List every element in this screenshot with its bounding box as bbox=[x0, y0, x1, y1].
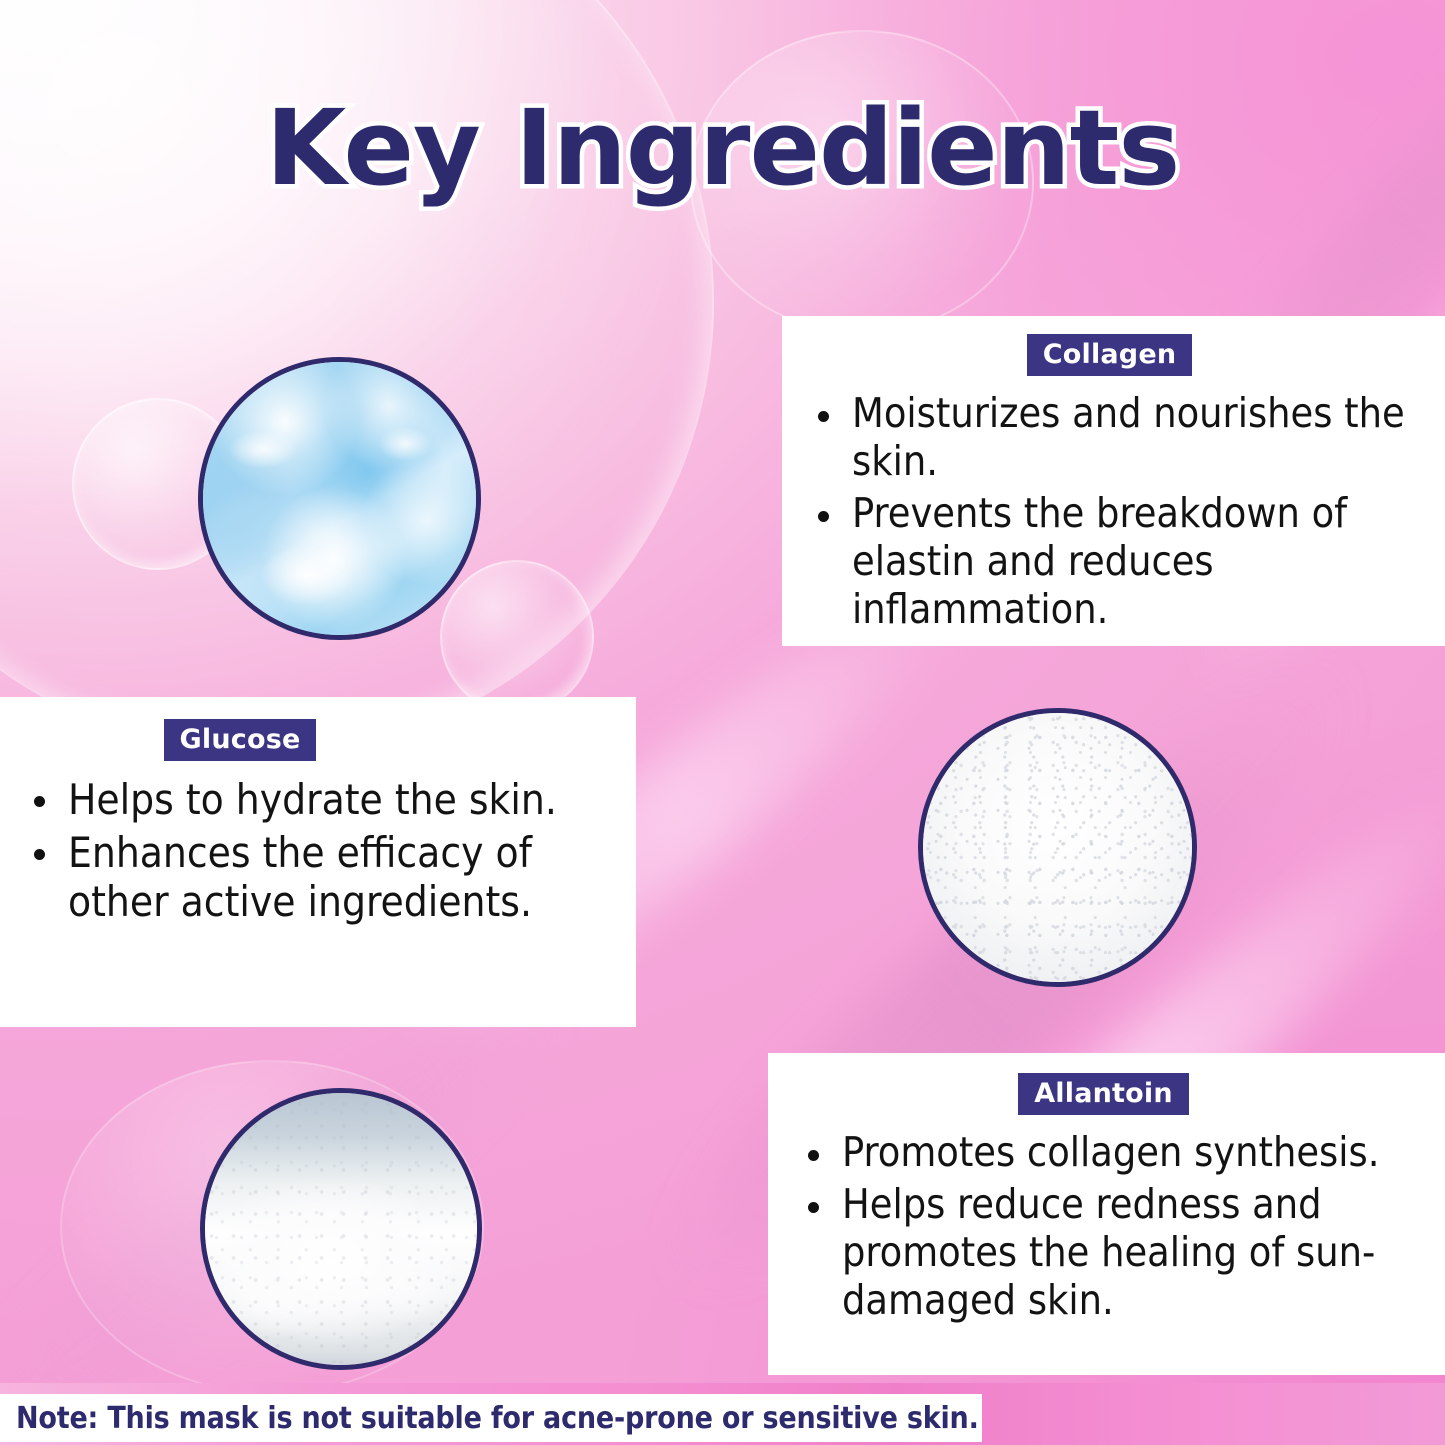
ingredient-card-collagen: Collagen Moisturizes and nourishes the s… bbox=[782, 316, 1445, 646]
blue-gel-crystals-photo bbox=[198, 357, 481, 640]
ingredient-tag-collagen: Collagen bbox=[1027, 334, 1193, 376]
benefit-list: Promotes collagen synthesis. Helps reduc… bbox=[798, 1129, 1425, 1325]
sugar-texture bbox=[923, 713, 1192, 982]
tag-row: Glucose bbox=[24, 719, 616, 761]
list-item: Promotes collagen synthesis. bbox=[798, 1129, 1425, 1177]
list-item: Helps to hydrate the skin. bbox=[24, 775, 616, 824]
ingredient-card-allantoin: Allantoin Promotes collagen synthesis. H… bbox=[768, 1053, 1445, 1375]
gel-texture bbox=[203, 362, 476, 635]
list-item: Helps reduce redness and promotes the he… bbox=[798, 1181, 1425, 1325]
page-title: Key Ingredients bbox=[0, 92, 1445, 204]
footer-note-text: Note: This mask is not suitable for acne… bbox=[16, 1401, 979, 1436]
ingredient-card-glucose: Glucose Helps to hydrate the skin. Enhan… bbox=[0, 697, 636, 1027]
ingredient-tag-allantoin: Allantoin bbox=[1018, 1073, 1189, 1115]
tag-row: Collagen bbox=[808, 334, 1423, 376]
powder-texture bbox=[205, 1093, 477, 1365]
benefit-list: Moisturizes and nourishes the skin. Prev… bbox=[808, 390, 1423, 634]
footer-note: Note: This mask is not suitable for acne… bbox=[0, 1394, 982, 1442]
tag-row: Allantoin bbox=[798, 1073, 1425, 1115]
list-item: Enhances the efficacy of other active in… bbox=[24, 828, 616, 926]
list-item: Prevents the breakdown of elastin and re… bbox=[808, 490, 1423, 634]
benefit-list: Helps to hydrate the skin. Enhances the … bbox=[24, 775, 616, 926]
key-ingredients-infographic: Key Ingredients Collagen Moisturizes and… bbox=[0, 0, 1445, 1445]
white-powder-bowl-photo bbox=[200, 1088, 482, 1370]
white-sugar-crystals-photo bbox=[918, 708, 1197, 987]
list-item: Moisturizes and nourishes the skin. bbox=[808, 390, 1423, 486]
ingredient-tag-glucose: Glucose bbox=[164, 719, 317, 761]
